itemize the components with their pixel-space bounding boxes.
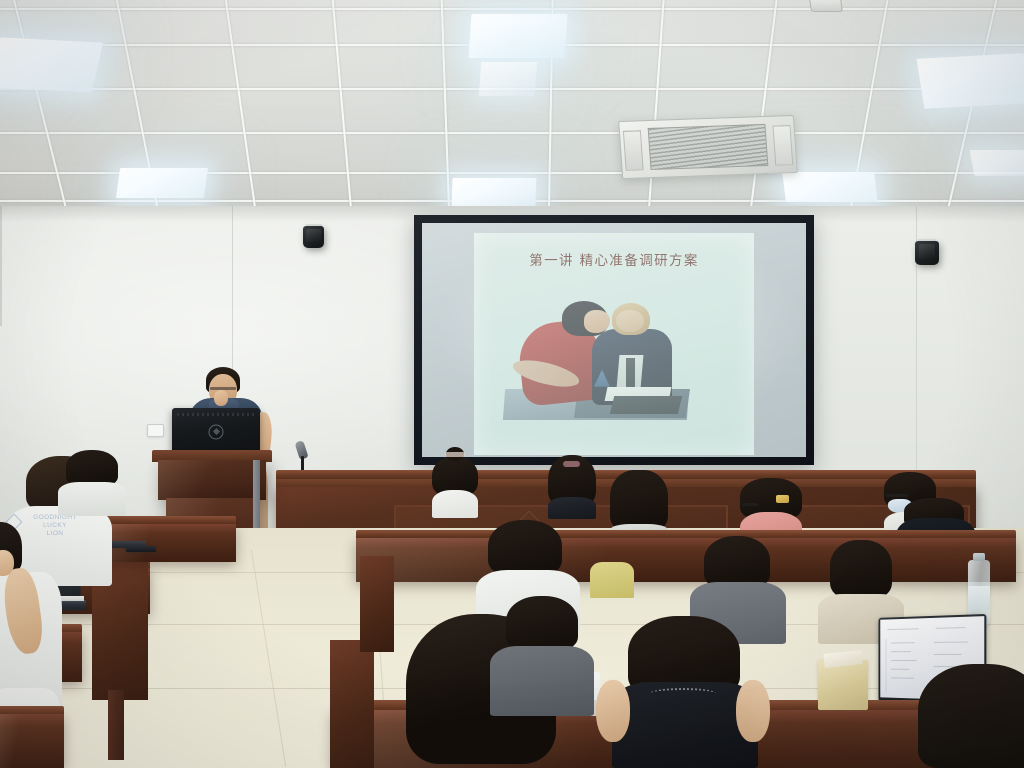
screen-text-line <box>891 677 914 679</box>
snack-package-top <box>823 650 862 668</box>
person-arm <box>736 680 770 742</box>
ceiling-light-panel <box>116 168 208 198</box>
audience-person <box>612 616 758 768</box>
screen-text-line <box>891 660 917 661</box>
desk-row <box>0 714 64 768</box>
hair-tie <box>445 452 465 457</box>
audience-person <box>590 552 634 598</box>
air-conditioner-unit <box>618 115 798 179</box>
wall-speaker-right <box>915 241 939 265</box>
person-hair <box>506 596 578 650</box>
ceiling-light-panel <box>0 37 103 92</box>
screen-text-line <box>934 654 962 655</box>
ac-vane <box>772 125 792 166</box>
monitor-vent <box>177 413 254 417</box>
illustration-person-suit-face <box>616 310 644 332</box>
ac-vane <box>623 130 643 171</box>
screen-divider <box>886 639 887 693</box>
wall-seam <box>0 206 2 326</box>
ceiling-grid-line <box>0 8 1024 10</box>
projection-screen-frame: 第一讲 精心准备调研方案 <box>414 215 814 465</box>
wall-speaker-left <box>303 226 324 248</box>
person-shirt <box>432 490 478 518</box>
ceiling-light-panel <box>479 62 537 96</box>
lecture-hall-photo: 第一讲 精心准备调研方案 <box>0 0 1024 768</box>
screen-text-line <box>936 627 966 629</box>
screen-text-line <box>891 651 911 652</box>
person-hair <box>918 664 1024 768</box>
presentation-slide: 第一讲 精心准备调研方案 <box>474 233 754 455</box>
desk-row <box>356 538 1016 582</box>
audience-person <box>58 450 126 516</box>
podium-monitor[interactable] <box>172 408 260 454</box>
person-glasses <box>886 494 908 497</box>
necklace <box>650 688 716 699</box>
person-hair <box>66 450 118 486</box>
smoke-detector-icon <box>809 0 843 12</box>
person-hair <box>830 540 892 598</box>
bottle-label <box>968 586 990 610</box>
ceiling-light-panel <box>782 172 878 202</box>
ceiling-light-panel <box>452 178 537 206</box>
hair-clip <box>776 495 789 503</box>
person-shirt <box>590 562 634 598</box>
person-arm <box>596 680 630 742</box>
ceiling-light-panel <box>970 150 1024 176</box>
ceiling-light-panel <box>916 53 1024 109</box>
desk-device[interactable] <box>126 546 156 552</box>
desk-end-panel <box>330 640 374 768</box>
person-glasses <box>742 503 758 506</box>
snack-package[interactable] <box>818 660 868 710</box>
audience-person <box>918 664 1024 768</box>
person-shirt <box>58 482 126 516</box>
screen-text-line <box>934 641 968 643</box>
ceiling-grid-line <box>0 132 1024 134</box>
audience-person <box>490 596 594 716</box>
desk-gloss <box>0 714 64 768</box>
person-shirt <box>548 497 596 519</box>
screen-text-line <box>891 642 915 643</box>
ac-grille-slats <box>649 125 768 169</box>
podium-gloss <box>158 460 266 500</box>
ceiling <box>0 0 1024 212</box>
wall-outlet <box>147 424 164 437</box>
podium-head <box>158 460 266 500</box>
person-shirt <box>490 646 594 716</box>
floor-tile-seam <box>251 549 287 766</box>
projection-screen-surface: 第一讲 精心准备调研方案 <box>422 223 806 457</box>
person-hair <box>704 536 770 588</box>
desk-leg <box>108 690 124 760</box>
dell-logo-icon <box>209 424 224 439</box>
person-hair <box>488 520 562 576</box>
ceiling-light-panel <box>468 14 567 58</box>
desk-end-panel <box>360 556 394 652</box>
desk-gloss <box>356 538 1016 582</box>
audience-person <box>432 456 478 518</box>
presenter-hand <box>214 390 228 406</box>
slide-illustration <box>496 293 696 423</box>
screen-text-line <box>891 669 909 670</box>
audience-person <box>548 455 596 519</box>
bottle-cap <box>973 553 985 561</box>
ac-grille <box>648 124 769 170</box>
hair-tie <box>563 461 580 467</box>
illustration-laptop <box>610 396 683 414</box>
slide-title: 第一讲 精心准备调研方案 <box>474 249 754 269</box>
screen-text-line <box>887 628 918 630</box>
person-hair <box>610 470 668 532</box>
